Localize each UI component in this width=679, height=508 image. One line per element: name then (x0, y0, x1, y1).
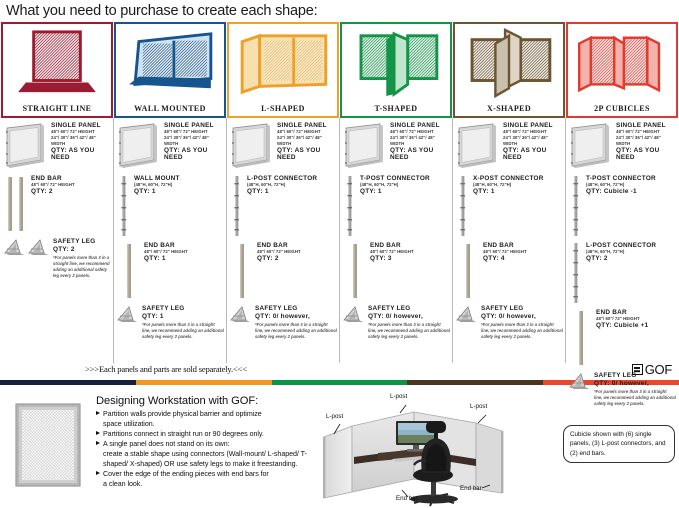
part-text: X-POST CONNECTOR(48"H, 60"H, 72"H)QTY: 1 (471, 175, 563, 196)
part-text: SINGLE PANEL48"/ 60"/ 72" HEIGHT24"/ 30"… (614, 122, 676, 162)
part-row: SAFETY LEGQTY: 2*For panels more than 3 … (3, 238, 111, 279)
part-note: *For panels more than 3 in a straight li… (53, 254, 111, 279)
connector-icon (229, 175, 245, 242)
part-title: T-POST CONNECTOR (586, 175, 676, 182)
part-row: END BAR48"/ 60"/ 72" HEIGHTQTY: 1 (116, 242, 224, 305)
cubicle-diagram: L-postL-postL-postEnd barEnd bar Cubicle… (318, 391, 679, 505)
bullet-text-continued: a clean look. (103, 480, 142, 488)
part-text: SAFETY LEGQTY: 1*For panels more than 3 … (140, 305, 224, 340)
part-qty: QTY: 4 (483, 255, 563, 263)
part-title: END BAR (596, 309, 676, 316)
part-row: SINGLE PANEL48"/ 60"/ 72" HEIGHT24"/ 30"… (342, 122, 450, 175)
part-text: SAFETY LEGQTY: 0/ however,*For panels mo… (366, 305, 450, 340)
part-title: WALL MOUNT (134, 175, 224, 182)
part-qty: QTY: AS YOU NEED (616, 146, 676, 162)
bullet-arrow-icon (96, 431, 100, 435)
part-title: L-POST CONNECTOR (247, 175, 337, 182)
part-qty: QTY: 0/ however, (368, 312, 450, 320)
panel-icon (116, 122, 162, 175)
color-rule-segment-1 (136, 380, 272, 385)
bullet-text: Partitions connect in straight run or 90… (103, 430, 264, 438)
part-row: END BAR48"/ 60"/ 72" HEIGHTQTY: 3 (342, 242, 450, 305)
part-title: SAFETY LEG (255, 305, 337, 312)
part-text: SAFETY LEGQTY: 0/ however,*For panels mo… (479, 305, 563, 340)
bullet-arrow-icon (96, 441, 100, 445)
part-note: *For panels more than 3 in a straight li… (368, 321, 450, 340)
parts-column-wall-mounted: SINGLE PANEL48"/ 60"/ 72" HEIGHT24"/ 30"… (114, 118, 227, 363)
part-qty: QTY: AS YOU NEED (277, 146, 337, 162)
sold-separately-bar: >>>Each panels and parts are sold separa… (0, 363, 679, 380)
part-text: SINGLE PANEL48"/ 60"/ 72" HEIGHT24"/ 30"… (49, 122, 111, 162)
part-row: L-POST CONNECTOR(48"H, 60"H, 72"H)QTY: 1 (229, 175, 337, 242)
part-qty: QTY: AS YOU NEED (390, 146, 450, 162)
part-row: SINGLE PANEL48"/ 60"/ 72" HEIGHT24"/ 30"… (568, 122, 676, 175)
part-row: WALL MOUNT(48"H, 60"H, 72"H)QTY: 1 (116, 175, 224, 242)
part-title: END BAR (144, 242, 224, 249)
connector-icon (568, 242, 584, 309)
parts-column-t-shaped: SINGLE PANEL48"/ 60"/ 72" HEIGHT24"/ 30"… (340, 118, 453, 363)
part-qty: QTY: 0/ however, (255, 312, 337, 320)
part-row: SINGLE PANEL48"/ 60"/ 72" HEIGHT24"/ 30"… (229, 122, 337, 175)
shape-label: L-SHAPED (261, 105, 305, 116)
design-bullet-list: Partition walls provide physical barrier… (96, 409, 318, 490)
part-title: SINGLE PANEL (616, 122, 676, 129)
part-sub-2: 24"/ 30"/ 36"/ 42"/ 48" WIDTH (51, 135, 111, 146)
parts-column-l-shaped: SINGLE PANEL48"/ 60"/ 72" HEIGHT24"/ 30"… (227, 118, 340, 363)
parts-column-straight-line: SINGLE PANEL48"/ 60"/ 72" HEIGHT24"/ 30"… (1, 118, 114, 363)
part-text: SAFETY LEGQTY: 0/ however,*For panels mo… (253, 305, 337, 340)
part-row: SINGLE PANEL48"/ 60"/ 72" HEIGHT24"/ 30"… (455, 122, 563, 175)
leg1-icon (342, 305, 366, 328)
shape-illustration-icon (459, 28, 559, 98)
design-bullet: Partitions connect in straight run or 90… (96, 429, 318, 439)
design-bullet-continued: a clean look. (96, 479, 318, 489)
part-text: SINGLE PANEL48"/ 60"/ 72" HEIGHT24"/ 30"… (275, 122, 337, 162)
bullet-text: A single panel does not stand on its own… (103, 440, 230, 448)
part-sub-2: 24"/ 30"/ 36"/ 42"/ 48" WIDTH (277, 135, 337, 146)
panel-icon (3, 122, 49, 175)
gof-logo-text: GOF (645, 362, 672, 377)
part-row: SAFETY LEGQTY: 1*For panels more than 3 … (116, 305, 224, 340)
part-row: SINGLE PANEL48"/ 60"/ 72" HEIGHT24"/ 30"… (116, 122, 224, 175)
shape-illustration-icon (7, 28, 107, 98)
connector-icon (342, 175, 358, 242)
part-row: T-POST CONNECTOR(48"H, 60"H, 72"H)QTY: 1 (342, 175, 450, 242)
design-bullet: Partition walls provide physical barrier… (96, 409, 318, 419)
shape-card-2p-cubicles[interactable]: 2P CUBICLES (566, 22, 678, 118)
cubicle-label: L-post (470, 403, 487, 410)
part-qty: QTY: 1 (134, 188, 224, 196)
part-title: END BAR (483, 242, 563, 249)
panel-icon (455, 122, 501, 175)
parts-columns: SINGLE PANEL48"/ 60"/ 72" HEIGHT24"/ 30"… (0, 118, 679, 363)
endbar2-icon (3, 175, 29, 238)
cubicle-label: L-post (326, 413, 343, 420)
part-title: SINGLE PANEL (164, 122, 224, 129)
part-qty: QTY: 2 (31, 188, 111, 196)
part-qty: QTY: 0/ however, (481, 312, 563, 320)
part-row: END BAR48"/ 60"/ 72" HEIGHTQTY: 2 (3, 175, 111, 238)
part-note: *For panels more than 3 in a straight li… (481, 321, 563, 340)
part-qty: QTY: 1 (473, 188, 563, 196)
shape-card-t-shaped[interactable]: T-SHAPED (340, 22, 452, 118)
part-row: X-POST CONNECTOR(48"H, 60"H, 72"H)QTY: 1 (455, 175, 563, 242)
connector-icon (116, 175, 132, 242)
part-row: SINGLE PANEL48"/ 60"/ 72" HEIGHT24"/ 30"… (3, 122, 111, 175)
connector-icon (568, 175, 584, 242)
part-qty: QTY: 2 (53, 245, 111, 253)
part-qty: QTY: AS YOU NEED (164, 146, 224, 162)
part-qty: QTY: 1 (247, 188, 337, 196)
part-text: WALL MOUNT(48"H, 60"H, 72"H)QTY: 1 (132, 175, 224, 196)
color-rule-segment-3 (407, 380, 543, 385)
bullet-arrow-icon (96, 471, 100, 475)
part-title: END BAR (257, 242, 337, 249)
shape-card-wall-mounted[interactable]: WALL MOUNTED (114, 22, 226, 118)
part-qty: QTY: 1 (142, 312, 224, 320)
part-qty: QTY: Cubicle -1 (586, 188, 676, 196)
part-qty: QTY: 2 (257, 255, 337, 263)
shape-illustration-icon (346, 28, 446, 98)
part-title: SAFETY LEG (53, 238, 111, 245)
parts-column-2p-cubicles: SINGLE PANEL48"/ 60"/ 72" HEIGHT24"/ 30"… (566, 118, 678, 363)
part-sub-2: 24"/ 30"/ 36"/ 42"/ 48" WIDTH (503, 135, 563, 146)
bullet-text-continued: space utilization. (103, 420, 155, 428)
part-row: SAFETY LEGQTY: 0/ however,*For panels mo… (229, 305, 337, 340)
cubicle-label: End bar (460, 485, 482, 492)
part-text: END BAR48"/ 60"/ 72" HEIGHTQTY: Cubicle … (594, 309, 676, 330)
bullet-text-continued: create a stable shape using connectors (… (103, 450, 307, 468)
panel-icon (568, 122, 614, 175)
part-title: SAFETY LEG (481, 305, 563, 312)
leg1-icon (116, 305, 140, 328)
cubicle-label: L-post (390, 393, 407, 400)
part-row: SAFETY LEGQTY: 0/ however,*For panels mo… (342, 305, 450, 340)
shape-card-x-shaped[interactable]: X-SHAPED (453, 22, 565, 118)
endbar1-icon (229, 242, 255, 305)
part-text: END BAR48"/ 60"/ 72" HEIGHTQTY: 2 (29, 175, 111, 196)
part-text: T-POST CONNECTOR(48"H, 60"H, 72"H)QTY: C… (584, 175, 676, 196)
part-text: SINGLE PANEL48"/ 60"/ 72" HEIGHT24"/ 30"… (162, 122, 224, 162)
part-qty: QTY: AS YOU NEED (51, 146, 111, 162)
gof-mark-icon (632, 364, 643, 375)
part-qty: QTY: AS YOU NEED (503, 146, 563, 162)
shape-gallery: STRAIGHT LINEWALL MOUNTEDL-SHAPEDT-SHAPE… (0, 22, 679, 118)
part-text: END BAR48"/ 60"/ 72" HEIGHTQTY: 3 (368, 242, 450, 263)
part-row: SAFETY LEGQTY: 0/ however,*For panels mo… (455, 305, 563, 340)
shape-label: T-SHAPED (375, 105, 418, 116)
parts-column-x-shaped: SINGLE PANEL48"/ 60"/ 72" HEIGHT24"/ 30"… (453, 118, 566, 363)
design-section: Designing Workstation with GOF: Partitio… (0, 385, 679, 505)
color-rule-segment-0 (0, 380, 136, 385)
part-row: END BAR48"/ 60"/ 72" HEIGHTQTY: 4 (455, 242, 563, 305)
part-qty: QTY: 1 (144, 255, 224, 263)
part-row: L-POST CONNECTOR(48"H, 60"H, 72"H)QTY: 2 (568, 242, 676, 309)
part-text: END BAR48"/ 60"/ 72" HEIGHTQTY: 1 (142, 242, 224, 263)
endbar1-icon (116, 242, 142, 305)
part-title: SAFETY LEG (142, 305, 224, 312)
part-title: END BAR (31, 175, 111, 182)
part-text: SINGLE PANEL48"/ 60"/ 72" HEIGHT24"/ 30"… (501, 122, 563, 162)
part-note: *For panels more than 3 in a straight li… (142, 321, 224, 340)
part-text: SINGLE PANEL48"/ 60"/ 72" HEIGHT24"/ 30"… (388, 122, 450, 162)
bullet-text: Cover the edge of the ending pieces with… (103, 470, 269, 478)
design-bullet: Cover the edge of the ending pieces with… (96, 469, 318, 479)
part-qty: QTY: 2 (586, 255, 676, 263)
shape-illustration-icon (120, 28, 220, 98)
leg2-icon (3, 238, 51, 261)
endbar1-icon (342, 242, 368, 305)
part-title: SAFETY LEG (368, 305, 450, 312)
part-text: L-POST CONNECTOR(48"H, 60"H, 72"H)QTY: 2 (584, 242, 676, 263)
part-sub-2: 24"/ 30"/ 36"/ 42"/ 48" WIDTH (616, 135, 676, 146)
part-title: SINGLE PANEL (503, 122, 563, 129)
sold-separately-text: >>>Each panels and parts are sold separa… (85, 364, 247, 374)
part-sub-2: 24"/ 30"/ 36"/ 42"/ 48" WIDTH (390, 135, 450, 146)
part-text: T-POST CONNECTOR(48"H, 60"H, 72"H)QTY: 1 (358, 175, 450, 196)
gof-logo: GOF (632, 362, 672, 377)
part-row: T-POST CONNECTOR(48"H, 60"H, 72"H)QTY: C… (568, 175, 676, 242)
panel-icon (342, 122, 388, 175)
design-copy: Designing Workstation with GOF: Partitio… (96, 391, 318, 505)
panel-icon (229, 122, 275, 175)
endbar1-icon (455, 242, 481, 305)
part-qty: QTY: 1 (360, 188, 450, 196)
shape-illustration-icon (233, 28, 333, 98)
part-note: *For panels more than 3 in a straight li… (255, 321, 337, 340)
leg1-icon (229, 305, 253, 328)
shape-label: 2P CUBICLES (594, 105, 650, 116)
cubicle-callout: Cubicle shown with (6) single panels, (3… (563, 425, 675, 463)
panel-sample-image (0, 391, 96, 505)
part-qty: QTY: 0/ however, (594, 379, 676, 387)
part-title: END BAR (370, 242, 450, 249)
shape-illustration-icon (572, 28, 672, 98)
part-qty: QTY: 3 (370, 255, 450, 263)
part-title: T-POST CONNECTOR (360, 175, 450, 182)
connector-icon (455, 175, 471, 242)
cubicle-label: End bar (396, 495, 418, 502)
part-text: END BAR48"/ 60"/ 72" HEIGHTQTY: 4 (481, 242, 563, 263)
shape-card-straight-line[interactable]: STRAIGHT LINE (1, 22, 113, 118)
part-qty: QTY: Cubicle +1 (596, 322, 676, 330)
part-title: SINGLE PANEL (51, 122, 111, 129)
bullet-text: Partition walls provide physical barrier… (103, 410, 262, 418)
page-title: What you need to purchase to create each… (0, 0, 679, 22)
part-text: L-POST CONNECTOR(48"H, 60"H, 72"H)QTY: 1 (245, 175, 337, 196)
part-title: L-POST CONNECTOR (586, 242, 676, 249)
bullet-arrow-icon (96, 411, 100, 415)
part-title: X-POST CONNECTOR (473, 175, 563, 182)
shape-label: X-SHAPED (487, 105, 531, 116)
part-title: SINGLE PANEL (390, 122, 450, 129)
design-bullet-continued: space utilization. (96, 419, 318, 429)
design-title: Designing Workstation with GOF: (96, 395, 318, 409)
part-title: SINGLE PANEL (277, 122, 337, 129)
leg1-icon (455, 305, 479, 328)
part-text: SAFETY LEGQTY: 2*For panels more than 3 … (51, 238, 111, 279)
design-bullet: A single panel does not stand on its own… (96, 439, 318, 449)
shape-label: WALL MOUNTED (134, 105, 206, 116)
part-row: END BAR48"/ 60"/ 72" HEIGHTQTY: 2 (229, 242, 337, 305)
color-rule-segment-2 (272, 380, 408, 385)
shape-card-l-shaped[interactable]: L-SHAPED (227, 22, 339, 118)
shape-label: STRAIGHT LINE (23, 105, 92, 116)
part-text: END BAR48"/ 60"/ 72" HEIGHTQTY: 2 (255, 242, 337, 263)
part-sub-2: 24"/ 30"/ 36"/ 42"/ 48" WIDTH (164, 135, 224, 146)
design-bullet-continued: create a stable shape using connectors (… (96, 449, 318, 469)
